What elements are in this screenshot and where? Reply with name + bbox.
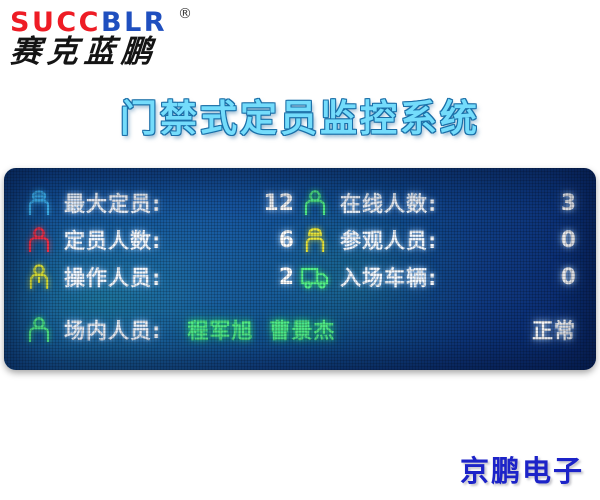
led-onsite-row: 场内人员: 程军旭 曹景杰 正常 xyxy=(24,313,586,347)
person-icon xyxy=(24,315,54,345)
page-title: 门禁式定员监控系统 xyxy=(0,88,600,142)
led-label: 最大定员: xyxy=(64,188,161,218)
onsite-person-name-1: 程军旭 xyxy=(187,315,253,345)
led-left-column: 最大定员: 12 定员人数: 6 xyxy=(24,186,304,297)
led-label: 在线人数: xyxy=(340,188,437,218)
led-label: 定员人数: xyxy=(64,225,161,255)
led-value: 0 xyxy=(561,265,586,290)
table-row: 入场车辆: 0 xyxy=(300,260,586,294)
led-label: 操作人员: xyxy=(64,262,161,292)
led-display-panel: 最大定员: 12 定员人数: 6 xyxy=(4,168,596,370)
led-content: 最大定员: 12 定员人数: 6 xyxy=(4,168,596,370)
onsite-person-name-2: 曹景杰 xyxy=(269,315,335,345)
led-right-column: 在线人数: 3 参观人员: 0 xyxy=(300,186,586,297)
footer-brand: 京鹏电子 xyxy=(460,448,584,490)
logo-wordmark: SUCCBLR xyxy=(10,9,167,36)
person-helmet-icon xyxy=(300,225,330,255)
led-value: 3 xyxy=(561,191,586,216)
led-label: 参观人员: xyxy=(340,225,437,255)
led-label: 入场车辆: xyxy=(340,262,437,292)
led-label: 场内人员: xyxy=(64,315,161,345)
status-badge: 正常 xyxy=(532,315,586,345)
company-logo: SUCCBLR ® 赛克蓝鹏 xyxy=(8,6,238,74)
table-row: 在线人数: 3 xyxy=(300,186,586,220)
led-value: 0 xyxy=(561,228,586,253)
person-icon xyxy=(300,188,330,218)
table-row: 最大定员: 12 xyxy=(24,186,304,220)
person-icon xyxy=(24,225,54,255)
table-row: 定员人数: 6 xyxy=(24,223,304,257)
logo-chinese-name: 赛克蓝鹏 xyxy=(9,37,159,68)
led-value: 12 xyxy=(263,191,304,216)
truck-icon xyxy=(300,262,330,292)
person-cap-icon xyxy=(24,188,54,218)
table-row: 操作人员: 2 xyxy=(24,260,304,294)
registered-trademark-icon: ® xyxy=(178,6,192,22)
person-worker-icon xyxy=(24,262,54,292)
table-row: 参观人员: 0 xyxy=(300,223,586,257)
